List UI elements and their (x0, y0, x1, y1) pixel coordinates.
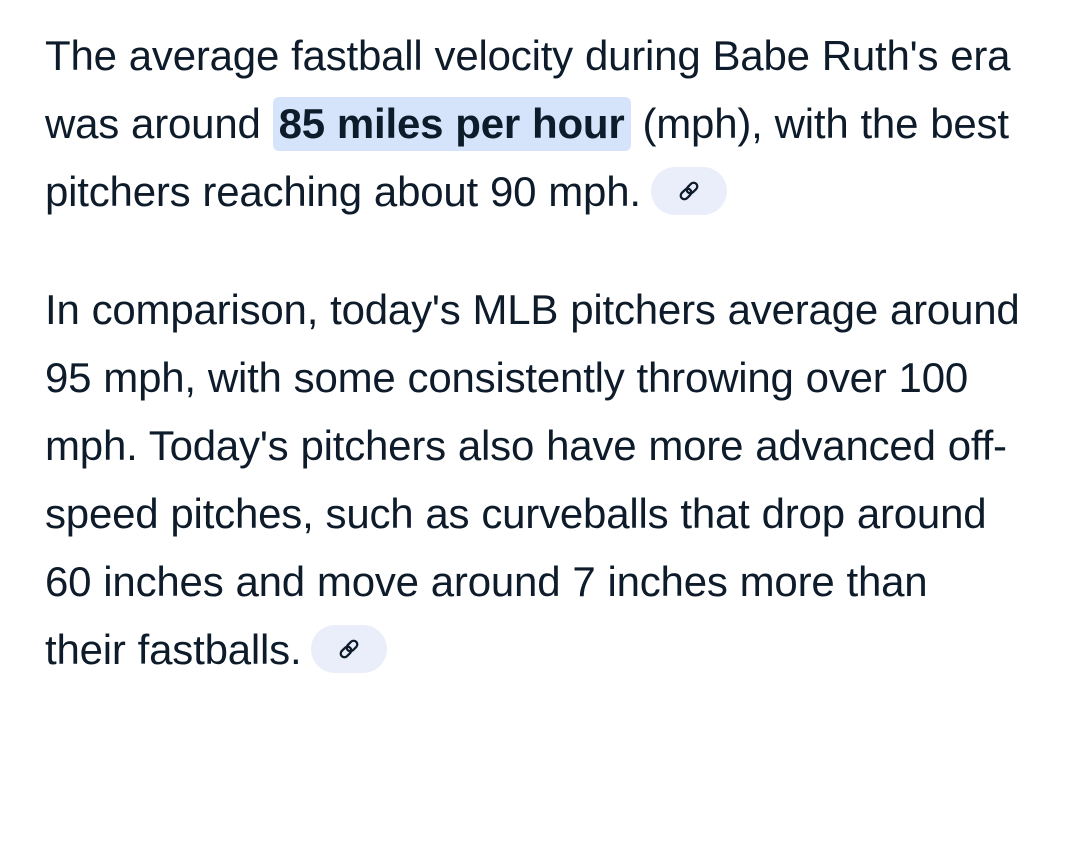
link-icon (676, 178, 702, 204)
paragraph-2-lead-text: In comparison, today's MLB pitchers aver… (45, 286, 1020, 673)
answer-body: The average fastball velocity during Bab… (0, 0, 1079, 851)
link-icon (336, 636, 362, 662)
citation-link-badge-2[interactable] (311, 625, 387, 673)
paragraph-babe-ruth-era: The average fastball velocity during Bab… (45, 22, 1020, 226)
citation-link-badge-1[interactable] (651, 167, 727, 215)
paragraph-modern-mlb: In comparison, today's MLB pitchers aver… (45, 276, 1020, 684)
highlighted-fact-fastball-velocity[interactable]: 85 miles per hour (273, 97, 631, 151)
